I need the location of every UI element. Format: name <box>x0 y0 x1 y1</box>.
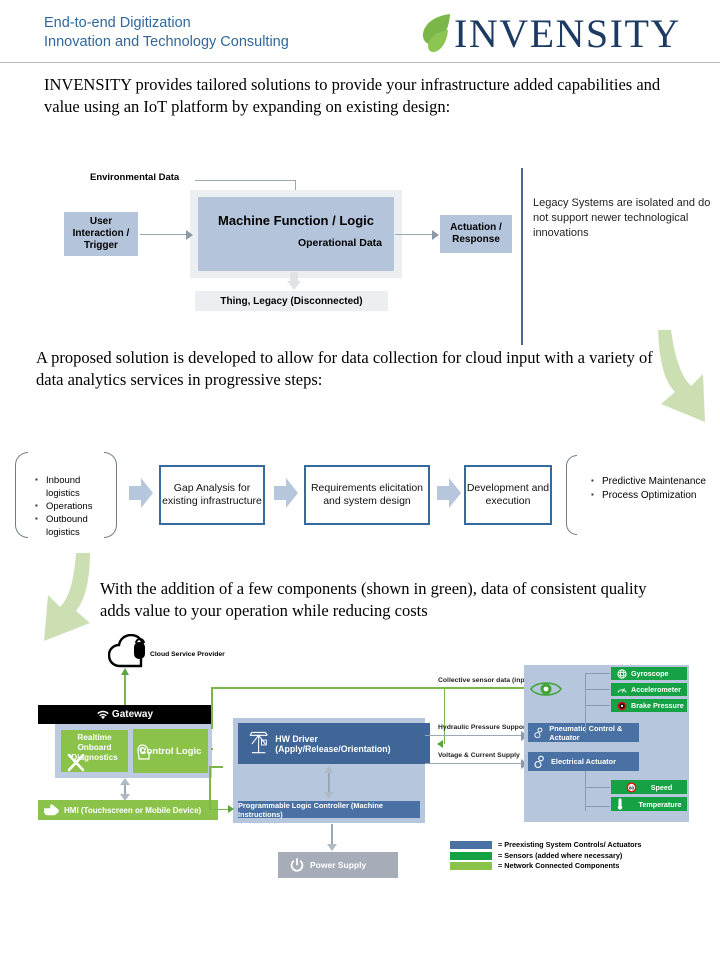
power-icon <box>290 858 304 872</box>
sensor-label: Brake Pressure <box>631 701 684 710</box>
legend-row: = Preexisting System Controls/ Actuators <box>450 840 641 851</box>
power-arrow <box>327 844 337 851</box>
actuation-line2: Response <box>452 234 500 246</box>
tree-top-b2 <box>585 689 610 690</box>
cloud-lock-icon <box>108 634 150 668</box>
brake-icon <box>617 701 627 711</box>
gateway-label: Gateway <box>112 709 153 720</box>
voltage-label: Voltage & Current Supply <box>438 752 520 759</box>
process-outputs-list: Predictive Maintenance Process Optimizat… <box>588 475 713 503</box>
list-item: Predictive Maintenance <box>602 475 713 489</box>
process-inputs-list: Inbound logistics Operations Outbound lo… <box>33 474 113 539</box>
legend-row: = Sensors (added where necessary) <box>450 851 641 862</box>
hmi-box: HMI (Touchscreen or Mobile Device) <box>38 800 218 820</box>
legend-swatch-sensors <box>450 852 492 860</box>
leaf-icon <box>420 12 454 56</box>
cloud-service-provider-label: Cloud Service Provider <box>150 651 225 658</box>
tree-top-b3 <box>585 705 610 706</box>
head-gear-icon <box>137 744 151 760</box>
process-step-1-line1: Gap Analysis for <box>162 482 262 495</box>
hmi-label: HMI (Touchscreen or Mobile Device) <box>64 806 201 815</box>
intro-paragraph-2: A proposed solution is developed to allo… <box>36 347 676 391</box>
machine-function-title: Machine Function / Logic <box>198 213 394 228</box>
control-logic-box: Control Logic <box>133 729 208 773</box>
list-item: Process Optimization <box>602 489 713 503</box>
ctrl-route-dot <box>211 748 213 750</box>
plc-route-v <box>209 766 211 810</box>
process-step-1-line2: existing infrastructure <box>162 495 262 508</box>
user-to-machine-arrow <box>186 230 193 240</box>
sensor-label: Gyroscope <box>631 669 669 678</box>
actuation-response-box: Actuation / Response <box>440 215 512 253</box>
legend-label: = Preexisting System Controls/ Actuators <box>498 840 641 851</box>
plc-box: Programmable Logic Controller (Machine I… <box>238 801 420 818</box>
realtime-diagnostics-box: Realtime Onboard Diagnostics <box>60 729 129 773</box>
actuator-label: Electrical Actuator <box>551 757 616 766</box>
gears-icon <box>534 726 544 740</box>
gears-icon <box>534 755 546 769</box>
tree-bottom-trunk <box>585 771 586 811</box>
ctrl-route-arrow-left <box>437 740 443 748</box>
list-item: Inbound logistics <box>46 474 113 500</box>
legend-swatch-preexisting <box>450 841 492 849</box>
list-item: Operations <box>46 500 113 513</box>
sensor-brake-pressure: Brake Pressure <box>610 698 688 713</box>
sensor-gyroscope: Gyroscope <box>610 666 688 681</box>
legend-row: = Network Connected Components <box>450 861 641 872</box>
process-step-3: Development and execution <box>464 465 552 525</box>
green-arrow-down-left-icon <box>30 553 105 643</box>
environmental-data-label: Environmental Data <box>90 172 179 183</box>
user-box-line1: User <box>90 216 112 228</box>
list-item: Outbound logistics <box>46 513 113 539</box>
actuator-label: Pneumatic Control & Actuator <box>549 724 639 742</box>
intro-paragraph-3: With the addition of a few components (s… <box>100 578 680 622</box>
voltage-line <box>425 763 525 764</box>
power-supply-label: Power Supply <box>310 860 366 870</box>
sensor-speed: 60 Speed <box>610 779 688 795</box>
chevron-arrow-1-icon <box>129 478 153 508</box>
header-title-line1: End-to-end Digitization <box>44 14 289 33</box>
sensor-data-label: Collective sensor data (input) <box>438 677 533 684</box>
process-step-3-line1: Development and <box>467 482 549 495</box>
output-brace-left <box>566 455 577 535</box>
sensor-temperature: Temperature <box>610 796 688 812</box>
speed-limit-icon: 60 <box>626 782 637 793</box>
svg-text:60: 60 <box>629 785 635 790</box>
hydraulic-label: Hydraulic Pressure Support <box>438 724 528 731</box>
input-brace-left <box>15 452 28 538</box>
sensor-data-line <box>437 687 535 689</box>
legend-label: = Sensors (added where necessary) <box>498 851 622 862</box>
operational-data-label: Operational Data <box>298 237 382 249</box>
header-divider <box>0 62 720 63</box>
hw-driver-label: HW Driver (Apply/Release/Orientation) <box>275 734 430 754</box>
user-box-line3: Trigger <box>84 240 118 252</box>
power-supply-box: Power Supply <box>278 852 398 878</box>
diagnostics-line1: Realtime Onboard <box>61 733 128 753</box>
eye-icon <box>530 679 562 699</box>
hw-plc-arrow-down <box>324 792 334 799</box>
machine-to-actuation-line <box>395 234 433 235</box>
thing-arrow <box>287 281 301 290</box>
thing-legacy-box: Thing, Legacy (Disconnected) <box>195 291 388 311</box>
pneumatic-actuator-box: Pneumatic Control & Actuator <box>528 723 639 742</box>
process-step-2: Requirements elicitation and system desi… <box>304 465 430 525</box>
user-interaction-box: User Interaction / Trigger <box>64 212 138 256</box>
legend: = Preexisting System Controls/ Actuators… <box>450 840 641 872</box>
hw-plc-line <box>328 772 330 794</box>
actuation-line1: Actuation / <box>450 222 502 234</box>
electrical-actuator-box: Electrical Actuator <box>528 752 639 771</box>
ctrl-route-v1 <box>211 687 213 729</box>
legacy-note-divider <box>521 168 523 345</box>
tree-top-b1 <box>585 673 610 674</box>
sensor-label: Temperature <box>638 800 681 809</box>
slide-page: End-to-end Digitization Innovation and T… <box>0 0 720 960</box>
intro-paragraph-1: INVENSITY provides tailored solutions to… <box>44 74 684 118</box>
sensor-label: Speed <box>651 783 673 792</box>
tree-top-trunk <box>585 673 586 733</box>
gateway-to-cloud-arrow <box>121 668 129 675</box>
process-step-2-line1: Requirements elicitation <box>311 482 423 495</box>
plc-route-arrow <box>228 805 234 813</box>
process-step-2-line2: and system design <box>311 495 423 508</box>
legend-swatch-network <box>450 862 492 870</box>
header-title-line2: Innovation and Technology Consulting <box>44 33 289 52</box>
logo-wordmark: INVENSITY <box>454 14 681 54</box>
wifi-icon <box>97 710 109 720</box>
invensity-logo: INVENSITY <box>420 11 681 57</box>
crane-icon <box>248 731 269 757</box>
env-line-h <box>195 180 296 181</box>
power-line <box>331 824 333 846</box>
gateway-banner: Gateway <box>38 705 212 724</box>
hmi-link-arrow-up <box>120 778 130 785</box>
legacy-note-text: Legacy Systems are isolated and do not s… <box>533 196 713 241</box>
chevron-arrow-2-icon <box>274 478 298 508</box>
plc-route-h <box>209 809 230 811</box>
hw-plc-arrow-up <box>324 766 334 773</box>
sensor-label: Accelerometer <box>631 685 681 694</box>
machine-to-actuation-arrow <box>432 230 439 240</box>
hw-driver-box: HW Driver (Apply/Release/Orientation) <box>238 723 430 764</box>
gyroscope-icon <box>617 669 627 679</box>
hydraulic-line <box>425 735 525 736</box>
header-title: End-to-end Digitization Innovation and T… <box>44 14 289 52</box>
tree-bottom-b1 <box>585 787 610 788</box>
wrench-screwdriver-icon <box>67 754 87 772</box>
thermometer-icon <box>616 798 624 810</box>
user-to-machine-line <box>140 234 188 235</box>
sensor-accelerometer: Accelerometer <box>610 682 688 697</box>
plc-route-h0 <box>209 766 223 768</box>
green-arrow-down-right-icon <box>645 330 715 425</box>
process-step-1: Gap Analysis for existing infrastructure <box>159 465 265 525</box>
ctrl-route-h1 <box>211 687 445 689</box>
hand-pointer-icon <box>44 803 60 817</box>
user-box-line2: Interaction / <box>73 228 130 240</box>
gauge-icon <box>617 685 627 695</box>
machine-function-box: Machine Function / Logic Operational Dat… <box>198 197 394 271</box>
chevron-arrow-3-icon <box>437 478 461 508</box>
tree-bottom-b2 <box>585 806 610 807</box>
gateway-to-cloud-line <box>124 672 126 706</box>
process-step-3-line2: execution <box>467 495 549 508</box>
legend-label: = Network Connected Components <box>498 861 619 872</box>
